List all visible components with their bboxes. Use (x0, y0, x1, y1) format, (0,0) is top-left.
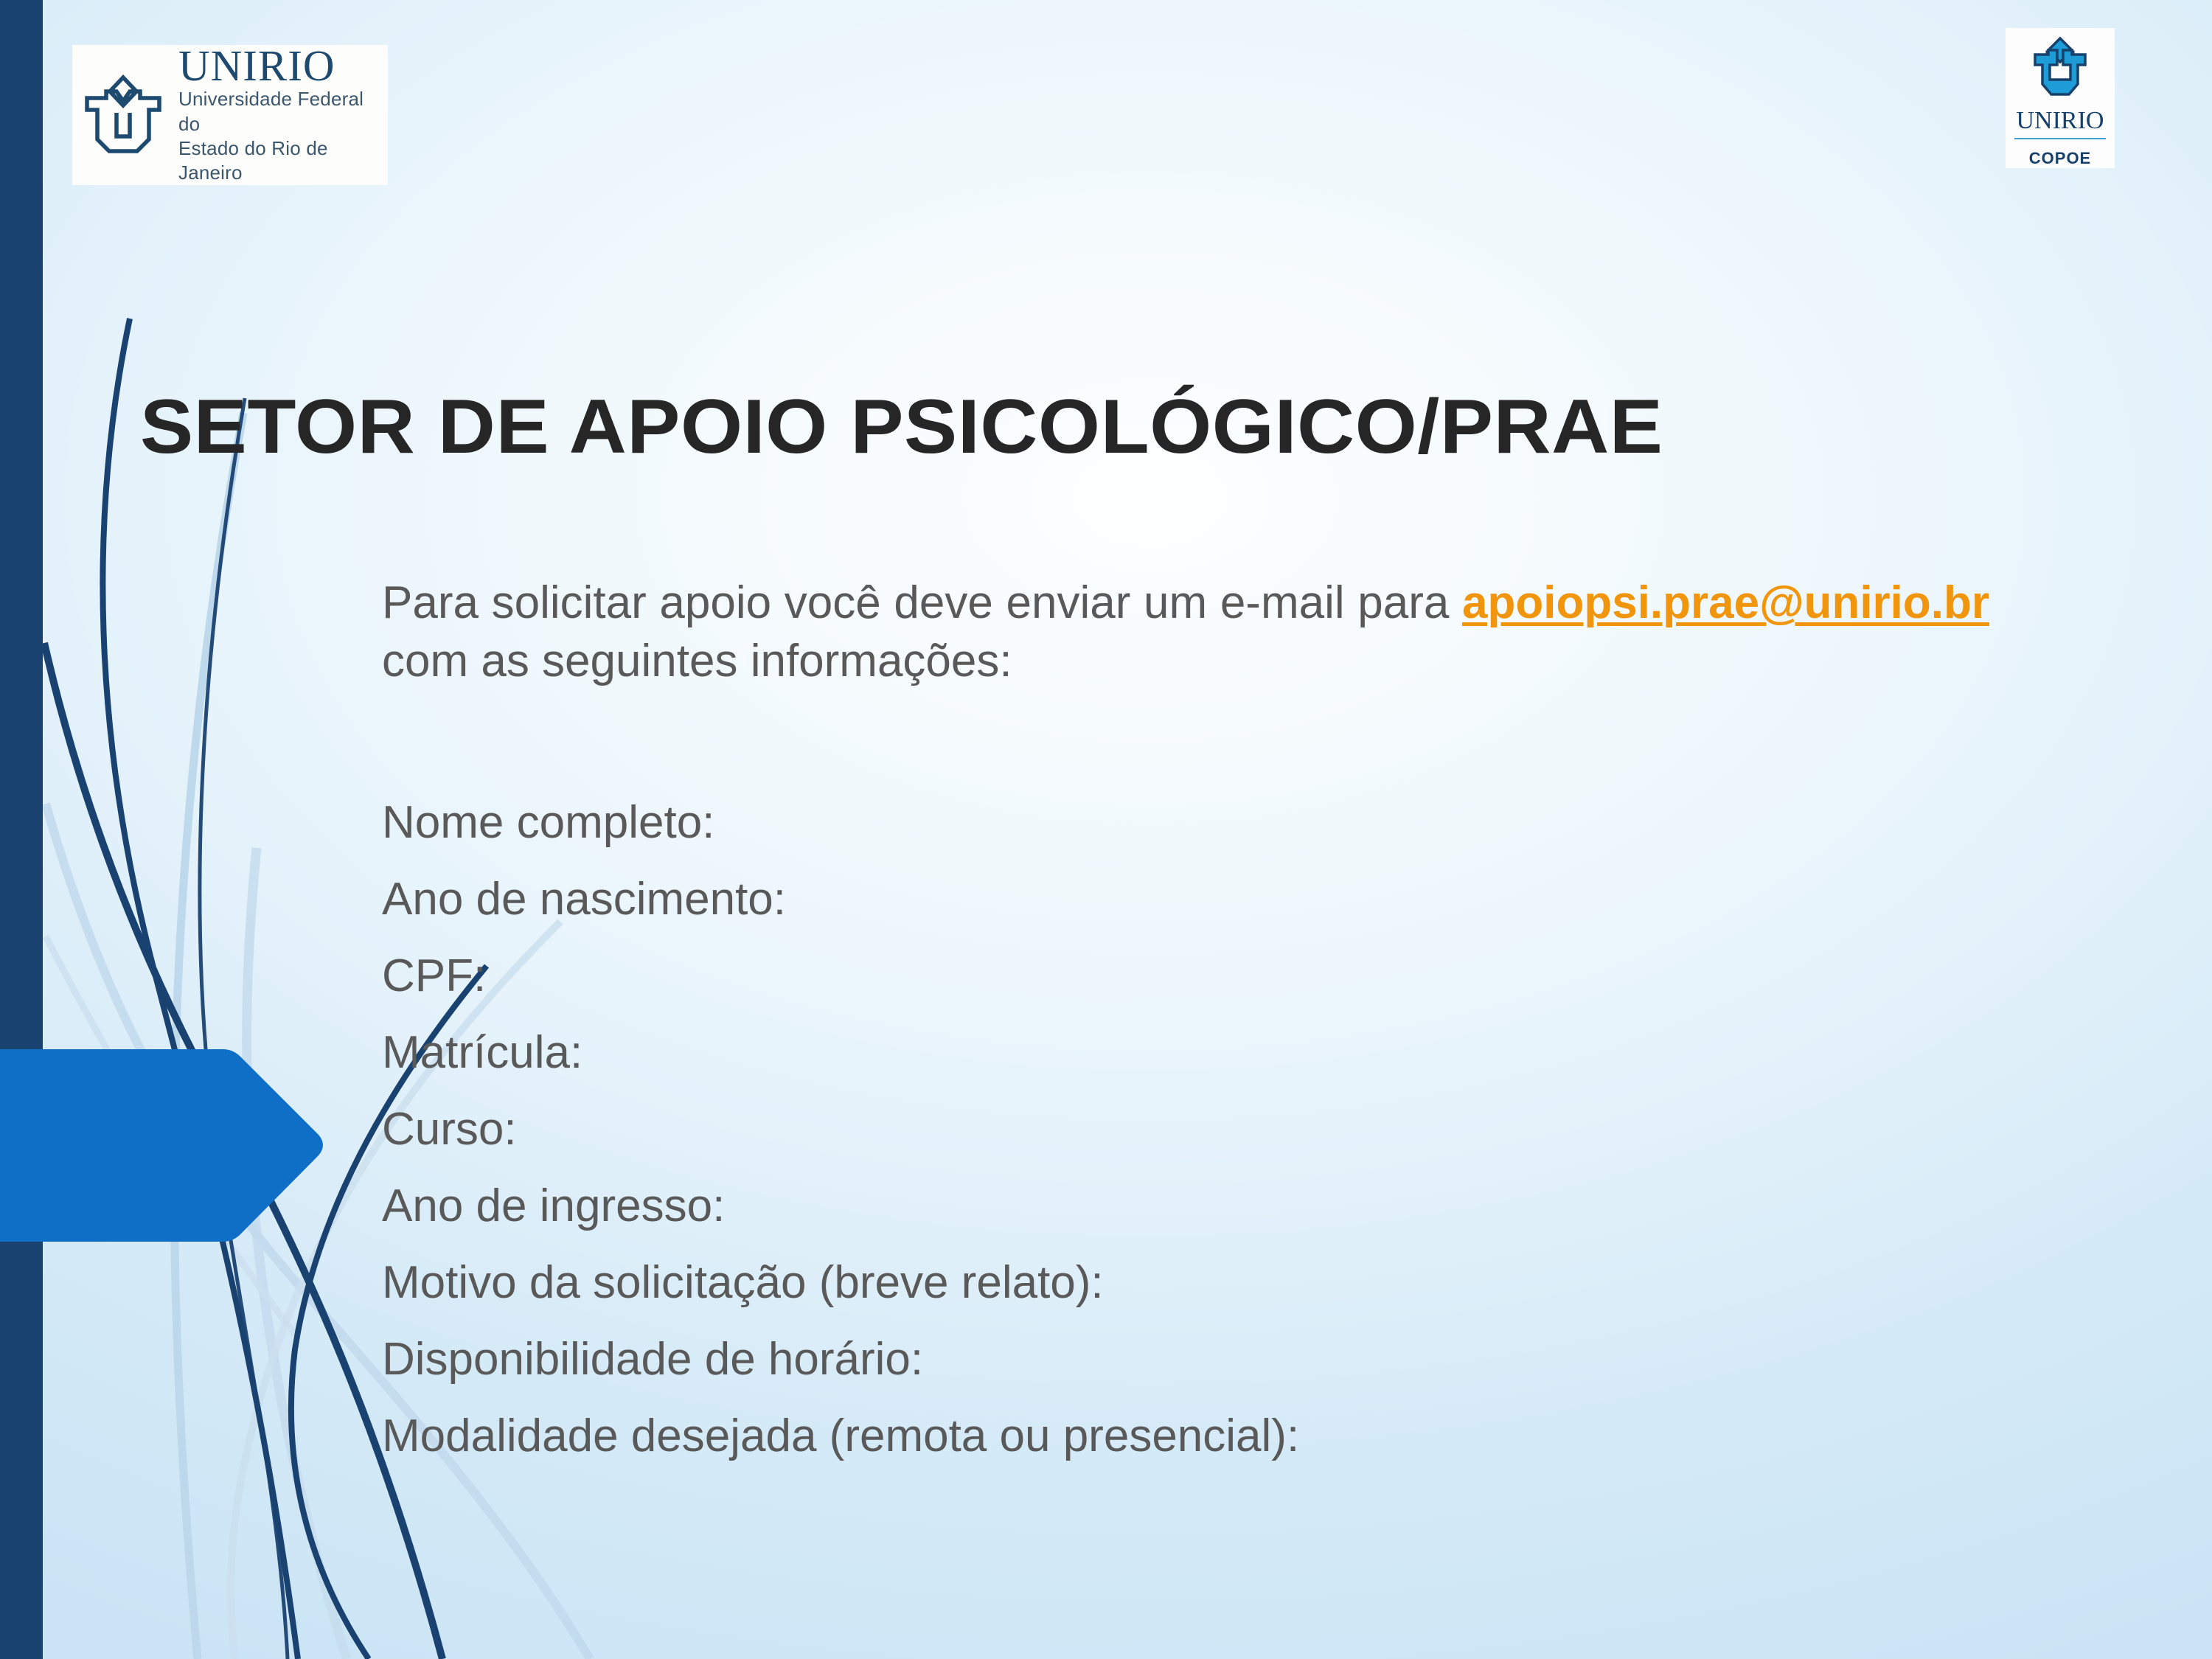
list-item: CPF: (382, 953, 2078, 999)
left-accent-bar (0, 0, 43, 1659)
unirio-subtitle-line2: Estado do Rio de Janeiro (178, 136, 388, 186)
list-item: Matrícula: (382, 1030, 2078, 1076)
list-item: Disponibilidade de horário: (382, 1337, 2078, 1382)
list-item: Motivo da solicitação (breve relato): (382, 1260, 2078, 1306)
requested-fields-list: Nome completo: Ano de nascimento: CPF: M… (382, 800, 2078, 1490)
list-item: Nome completo: (382, 800, 2078, 846)
unirio-mark-icon (78, 69, 168, 162)
intro-paragraph-block: Para solicitar apoio você deve enviar um… (382, 574, 1989, 691)
copoe-wordmark: UNIRIO (2017, 108, 2104, 133)
list-item: Modalidade desejada (remota ou presencia… (382, 1413, 2078, 1459)
intro-text-before-link: Para solicitar apoio você deve enviar um… (382, 577, 1462, 628)
intro-paragraph: Para solicitar apoio você deve enviar um… (382, 574, 1989, 691)
list-item: Curso: (382, 1107, 2078, 1152)
page-title: SETOR DE APOIO PSICOLÓGICO/PRAE (140, 387, 2211, 467)
email-link[interactable]: apoiopsi.prae@unirio.br (1462, 577, 1989, 628)
slide-canvas: UNIRIO Universidade Federal do Estado do… (0, 0, 2212, 1659)
blue-arrow-shape (0, 1046, 332, 1245)
intro-text-after-link: com as seguintes informações: (382, 636, 1012, 686)
list-item: Ano de nascimento: (382, 877, 2078, 922)
unirio-logo: UNIRIO Universidade Federal do Estado do… (72, 45, 388, 185)
unirio-subtitle-line1: Universidade Federal do (178, 87, 388, 136)
list-item: Ano de ingresso: (382, 1183, 2078, 1229)
unirio-wordmark: UNIRIO (178, 45, 388, 88)
copoe-label: COPOE (2029, 149, 2091, 168)
copoe-logo: UNIRIO COPOE (2006, 28, 2115, 168)
copoe-mark-icon (2025, 35, 2096, 107)
copoe-divider (2014, 138, 2106, 139)
